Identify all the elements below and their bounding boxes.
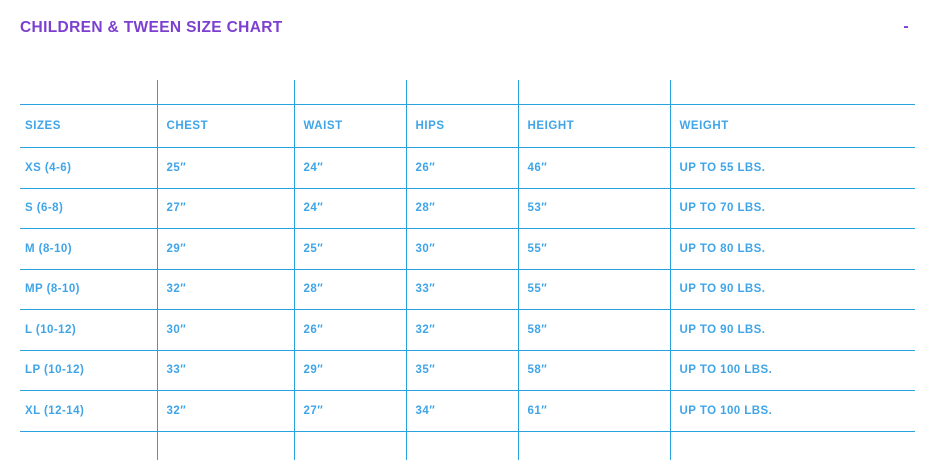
column-header-chest: CHEST — [157, 105, 294, 148]
cell-hips: 28″ — [406, 188, 518, 229]
table-row: LP (10-12) 33″ 29″ 35″ 58″ UP TO 100 LBS… — [20, 350, 915, 391]
spacer-cell — [294, 431, 406, 460]
cell-chest: 25″ — [157, 148, 294, 189]
cell-waist: 26″ — [294, 310, 406, 351]
spacer-cell — [157, 80, 294, 105]
cell-waist: 25″ — [294, 229, 406, 270]
cell-waist: 28″ — [294, 269, 406, 310]
cell-waist: 27″ — [294, 391, 406, 432]
collapse-minus-icon[interactable]: - — [896, 17, 916, 37]
cell-hips: 26″ — [406, 148, 518, 189]
spacer-cell — [518, 431, 670, 460]
cell-hips: 32″ — [406, 310, 518, 351]
spacer-cell — [670, 80, 915, 105]
page-title: CHILDREN & TWEEN SIZE CHART — [20, 19, 283, 37]
cell-weight: UP TO 90 LBS. — [670, 310, 915, 351]
spacer-cell — [157, 431, 294, 460]
table-spacer-row-top — [20, 80, 915, 105]
cell-height: 53″ — [518, 188, 670, 229]
page-header: CHILDREN & TWEEN SIZE CHART - — [0, 0, 933, 70]
cell-height: 55″ — [518, 269, 670, 310]
size-chart-table-wrapper: SIZES CHEST WAIST HIPS HEIGHT WEIGHT XS … — [20, 80, 915, 455]
spacer-cell — [406, 80, 518, 105]
table-row: MP (8-10) 32″ 28″ 33″ 55″ UP TO 90 LBS. — [20, 269, 915, 310]
table-spacer-row-bottom — [20, 431, 915, 460]
cell-size: M (8-10) — [20, 229, 157, 270]
cell-chest: 33″ — [157, 350, 294, 391]
cell-hips: 33″ — [406, 269, 518, 310]
cell-waist: 24″ — [294, 148, 406, 189]
spacer-cell — [518, 80, 670, 105]
cell-weight: UP TO 100 LBS. — [670, 391, 915, 432]
spacer-cell — [294, 80, 406, 105]
cell-chest: 27″ — [157, 188, 294, 229]
table-row: XS (4-6) 25″ 24″ 26″ 46″ UP TO 55 LBS. — [20, 148, 915, 189]
cell-height: 58″ — [518, 350, 670, 391]
spacer-cell — [20, 431, 157, 460]
cell-chest: 30″ — [157, 310, 294, 351]
cell-size: L (10-12) — [20, 310, 157, 351]
column-header-hips: HIPS — [406, 105, 518, 148]
cell-hips: 35″ — [406, 350, 518, 391]
spacer-cell — [406, 431, 518, 460]
table-body: XS (4-6) 25″ 24″ 26″ 46″ UP TO 55 LBS. S… — [20, 148, 915, 460]
table-row: S (6-8) 27″ 24″ 28″ 53″ UP TO 70 LBS. — [20, 188, 915, 229]
table-head: SIZES CHEST WAIST HIPS HEIGHT WEIGHT — [20, 80, 915, 148]
cell-height: 58″ — [518, 310, 670, 351]
column-header-height: HEIGHT — [518, 105, 670, 148]
cell-waist: 24″ — [294, 188, 406, 229]
cell-hips: 30″ — [406, 229, 518, 270]
cell-height: 61″ — [518, 391, 670, 432]
column-header-weight: WEIGHT — [670, 105, 915, 148]
cell-hips: 34″ — [406, 391, 518, 432]
table-row: XL (12-14) 32″ 27″ 34″ 61″ UP TO 100 LBS… — [20, 391, 915, 432]
cell-weight: UP TO 80 LBS. — [670, 229, 915, 270]
cell-chest: 29″ — [157, 229, 294, 270]
cell-size: MP (8-10) — [20, 269, 157, 310]
table-row: M (8-10) 29″ 25″ 30″ 55″ UP TO 80 LBS. — [20, 229, 915, 270]
column-header-waist: WAIST — [294, 105, 406, 148]
cell-weight: UP TO 100 LBS. — [670, 350, 915, 391]
size-chart-table: SIZES CHEST WAIST HIPS HEIGHT WEIGHT XS … — [20, 80, 915, 460]
spacer-cell — [670, 431, 915, 460]
cell-height: 46″ — [518, 148, 670, 189]
cell-size: XL (12-14) — [20, 391, 157, 432]
cell-size: XS (4-6) — [20, 148, 157, 189]
column-header-sizes: SIZES — [20, 105, 157, 148]
spacer-cell — [20, 80, 157, 105]
cell-height: 55″ — [518, 229, 670, 270]
cell-chest: 32″ — [157, 391, 294, 432]
table-row: L (10-12) 30″ 26″ 32″ 58″ UP TO 90 LBS. — [20, 310, 915, 351]
table-header-row: SIZES CHEST WAIST HIPS HEIGHT WEIGHT — [20, 105, 915, 148]
size-chart-page: CHILDREN & TWEEN SIZE CHART - SIZES — [0, 0, 933, 470]
cell-weight: UP TO 90 LBS. — [670, 269, 915, 310]
cell-weight: UP TO 70 LBS. — [670, 188, 915, 229]
cell-waist: 29″ — [294, 350, 406, 391]
cell-size: LP (10-12) — [20, 350, 157, 391]
cell-chest: 32″ — [157, 269, 294, 310]
cell-weight: UP TO 55 LBS. — [670, 148, 915, 189]
cell-size: S (6-8) — [20, 188, 157, 229]
